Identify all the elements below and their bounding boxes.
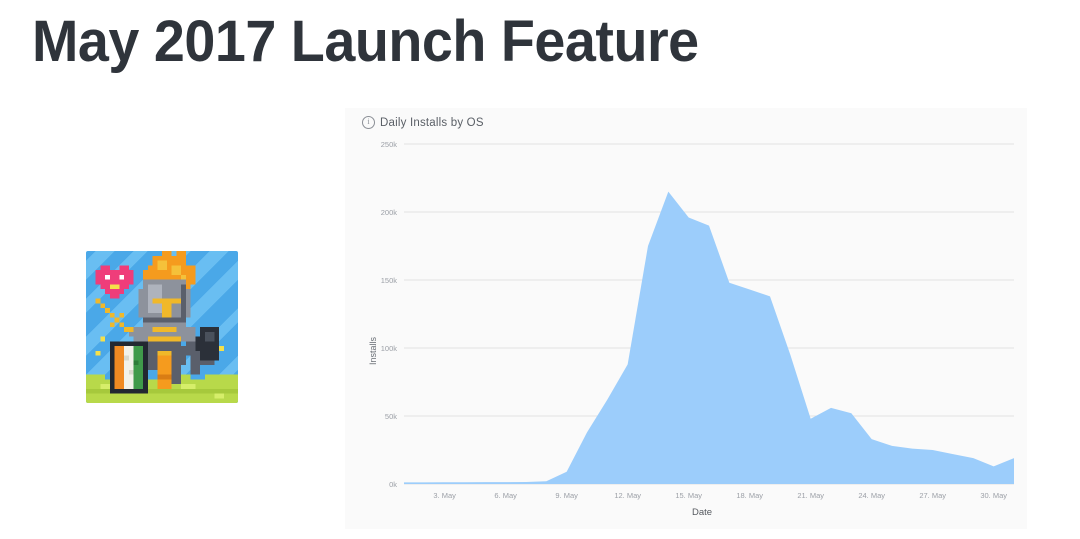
x-tick-label: 9. May: [555, 491, 578, 500]
y-tick-label: 0k: [389, 480, 397, 489]
x-tick-label: 21. May: [797, 491, 824, 500]
info-circle-icon[interactable]: [362, 116, 375, 129]
x-tick-label: 30. May: [980, 491, 1007, 500]
y-tick-label: 250k: [381, 140, 398, 149]
chart-plot-area: 0k50k100k150k200k250k 3. May6. May9. May…: [362, 136, 1019, 519]
chart-title: Daily Installs by OS: [380, 117, 484, 129]
y-tick-label: 100k: [381, 344, 398, 353]
x-tick-label: 12. May: [614, 491, 641, 500]
chart-header: Daily Installs by OS: [362, 116, 484, 129]
x-tick-label: 18. May: [736, 491, 763, 500]
app-icon-container: [86, 251, 238, 403]
daily-installs-chart-panel: Daily Installs by OS 0k50k100k150k200k25…: [345, 108, 1027, 529]
x-axis-title: Date: [692, 507, 712, 518]
x-tick-label: 15. May: [675, 491, 702, 500]
y-axis-title: Installs: [368, 336, 378, 365]
x-tick-label: 27. May: [919, 491, 946, 500]
x-tick-label: 6. May: [494, 491, 517, 500]
installs-area-series: [404, 192, 1014, 484]
x-tick-label: 24. May: [858, 491, 885, 500]
chart-x-tick-labels: 3. May6. May9. May12. May15. May18. May2…: [433, 491, 1007, 500]
y-tick-label: 150k: [381, 276, 398, 285]
page-title: May 2017 Launch Feature: [32, 8, 699, 75]
y-tick-label: 200k: [381, 208, 398, 217]
installs-area-chart[interactable]: 0k50k100k150k200k250k 3. May6. May9. May…: [362, 136, 1019, 519]
y-tick-label: 50k: [385, 412, 397, 421]
x-tick-label: 3. May: [433, 491, 456, 500]
chart-y-tick-labels: 0k50k100k150k200k250k: [381, 140, 398, 489]
pixel-art-knight-game-icon: [86, 251, 238, 403]
